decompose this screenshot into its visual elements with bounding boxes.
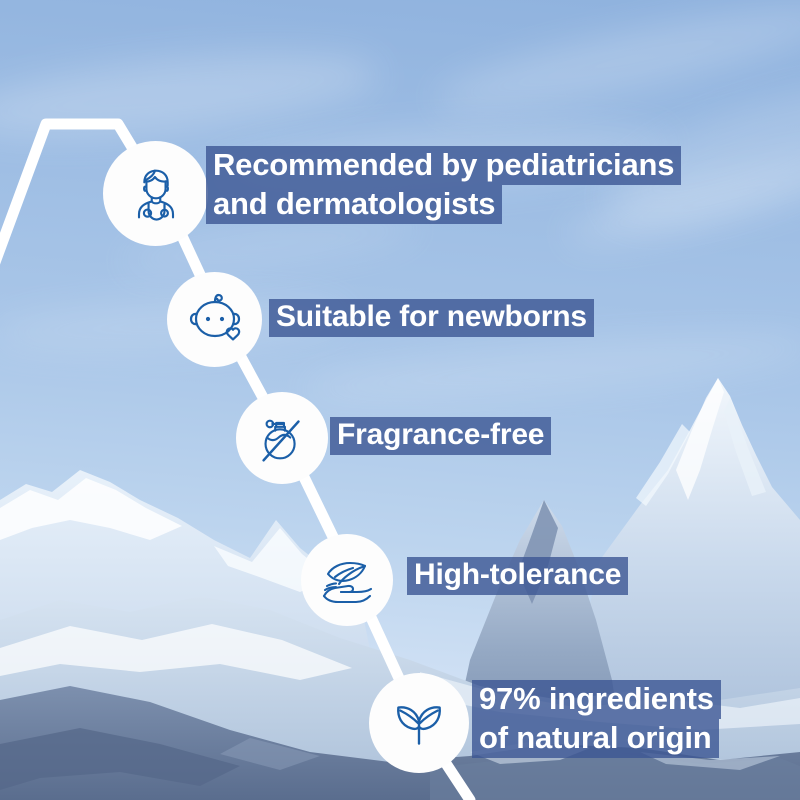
doctor-stethoscope-icon <box>122 160 190 228</box>
benefit-label-5: 97% ingredients of natural origin <box>472 680 721 758</box>
benefit-label-1-line-1: Recommended by pediatricians <box>206 146 681 185</box>
hand-holding-leaf-icon <box>315 548 379 612</box>
infographic-canvas: Recommended by pediatricians and dermato… <box>0 0 800 800</box>
benefit-bubble-5[interactable] <box>369 673 469 773</box>
baby-face-heart-icon <box>183 288 247 352</box>
benefit-label-4: High-tolerance <box>407 557 628 595</box>
benefit-bubble-3[interactable] <box>236 392 328 484</box>
two-leaves-icon <box>386 690 452 756</box>
benefit-label-3: Fragrance-free <box>330 417 551 455</box>
benefit-bubble-4[interactable] <box>301 534 393 626</box>
no-fragrance-bottle-icon <box>251 407 313 469</box>
benefit-label-5-line-2: of natural origin <box>472 719 719 758</box>
benefit-bubble-1[interactable] <box>103 141 208 246</box>
benefit-label-4-line-1: High-tolerance <box>407 557 628 595</box>
benefit-label-1-line-2: and dermatologists <box>206 185 502 224</box>
benefit-bubble-2[interactable] <box>167 272 262 367</box>
benefit-label-3-line-1: Fragrance-free <box>330 417 551 455</box>
benefit-label-1: Recommended by pediatricians and dermato… <box>206 146 681 224</box>
benefit-label-5-line-1: 97% ingredients <box>472 680 721 719</box>
benefit-label-2: Suitable for newborns <box>269 299 594 337</box>
benefit-label-2-line-1: Suitable for newborns <box>269 299 594 337</box>
